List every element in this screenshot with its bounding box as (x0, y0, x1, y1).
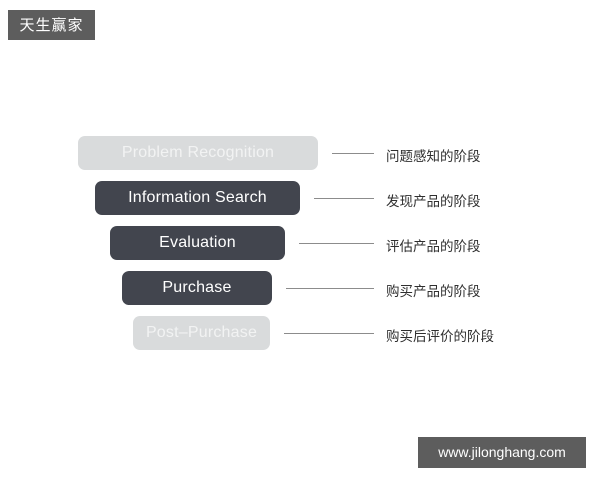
funnel-stage-label: Evaluation (159, 234, 236, 252)
funnel-connector-line (284, 333, 374, 334)
funnel-stage-row: Information Search发现产品的阶段 (0, 181, 600, 215)
funnel-diagram: Problem Recognition问题感知的阶段Information Se… (0, 0, 600, 480)
funnel-connector-line (299, 243, 374, 244)
funnel-stage-label: Purchase (162, 279, 231, 297)
funnel-stage-description: 购买后评价的阶段 (386, 325, 494, 345)
funnel-stage-row: Purchase购买产品的阶段 (0, 271, 600, 305)
funnel-stage-description: 问题感知的阶段 (386, 145, 481, 165)
site-watermark: www.jilonghang.com (418, 437, 586, 468)
funnel-stage-bar[interactable]: Post–Purchase (133, 316, 270, 350)
funnel-stage-description: 购买产品的阶段 (386, 280, 481, 300)
funnel-stage-label: Information Search (128, 189, 267, 207)
funnel-connector-line (286, 288, 374, 289)
funnel-stage-label: Problem Recognition (122, 144, 274, 162)
funnel-stage-row: Problem Recognition问题感知的阶段 (0, 136, 600, 170)
funnel-stage-row: Evaluation评估产品的阶段 (0, 226, 600, 260)
funnel-stage-bar[interactable]: Evaluation (110, 226, 285, 260)
funnel-stage-bar[interactable]: Purchase (122, 271, 272, 305)
funnel-stage-bar[interactable]: Information Search (95, 181, 300, 215)
funnel-stage-description: 发现产品的阶段 (386, 190, 481, 210)
funnel-stage-bar[interactable]: Problem Recognition (78, 136, 318, 170)
funnel-stage-row: Post–Purchase购买后评价的阶段 (0, 316, 600, 350)
funnel-stage-label: Post–Purchase (146, 324, 257, 342)
funnel-connector-line (332, 153, 374, 154)
funnel-stage-description: 评估产品的阶段 (386, 235, 481, 255)
funnel-connector-line (314, 198, 374, 199)
